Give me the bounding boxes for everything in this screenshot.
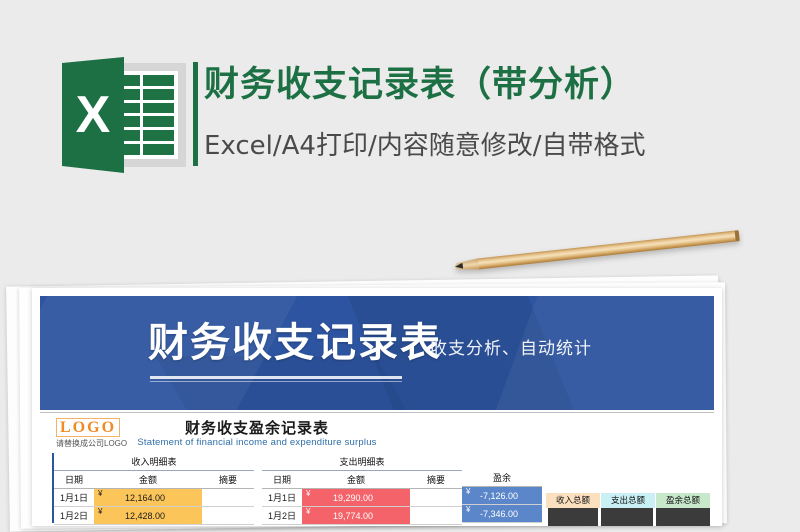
income-column-headers: 日期 金额 摘要 xyxy=(54,471,254,489)
spreadsheet-preview[interactable]: 财务收支记录表 收支分析、自动统计 LOGO 请替换成公司LOGO 财务收支盈余… xyxy=(32,288,722,526)
table-row[interactable]: 1月1日 ¥19,290.00 xyxy=(262,489,462,507)
income-memo[interactable] xyxy=(202,507,254,525)
surplus-column-headers: 盈余 xyxy=(462,469,542,487)
expense-col-amount: 金额 xyxy=(302,471,410,489)
expense-memo[interactable] xyxy=(410,507,462,525)
tables-region: 收入明细表 日期 金额 摘要 1月1日 ¥12,164.00 1月2日 xyxy=(40,453,714,523)
promo-title: 财务收支记录表（带分析） xyxy=(204,62,636,108)
surplus-col-label: 盈余 xyxy=(462,469,542,487)
table-row[interactable]: 1月1日 ¥12,164.00 xyxy=(54,489,254,507)
summary-cards: 收入总额 ¥249,942 支出总额 ¥252,479 盈余总额 (¥2,537… xyxy=(546,493,714,526)
income-table[interactable]: 收入明细表 日期 金额 摘要 1月1日 ¥12,164.00 1月2日 xyxy=(54,453,254,525)
expense-date[interactable]: 1月2日 xyxy=(262,507,302,525)
currency-symbol: ¥ xyxy=(466,505,470,514)
promo-subtitle: Excel/A4打印/内容随意修改/自带格式 xyxy=(204,126,645,166)
summary-card-expense[interactable]: 支出总额 ¥252,479 xyxy=(601,493,655,526)
currency-symbol: ¥ xyxy=(466,487,470,496)
pencil-end xyxy=(735,230,740,241)
currency-symbol: ¥ xyxy=(98,489,102,498)
expense-memo[interactable] xyxy=(410,489,462,507)
table-row[interactable]: ¥-7,346.00 xyxy=(462,505,542,523)
income-group-row: 收入明细表 xyxy=(54,453,254,471)
summary-value-expense: ¥252,479 xyxy=(601,508,655,526)
summary-label-income: 收入总额 xyxy=(546,493,600,508)
income-col-amount: 金额 xyxy=(94,471,202,489)
expense-group-label: 支出明细表 xyxy=(262,453,462,471)
income-col-date: 日期 xyxy=(54,471,94,489)
summary-card-income[interactable]: 收入总额 ¥249,942 xyxy=(546,493,600,526)
surplus-amount-value: -7,346.00 xyxy=(480,509,518,519)
surplus-amount[interactable]: ¥-7,126.00 xyxy=(462,487,542,505)
currency-symbol: ¥ xyxy=(306,489,310,498)
document-title: 财务收支盈余记录表 xyxy=(40,417,714,438)
banner-underline xyxy=(150,376,402,379)
expense-table[interactable]: 支出明细表 日期 金额 摘要 1月1日 ¥19,290.00 1月2日 xyxy=(262,453,462,525)
surplus-table[interactable]: 盈余 ¥-7,126.00 ¥-7,346.00 xyxy=(462,453,542,523)
income-col-memo: 摘要 xyxy=(202,471,254,489)
surplus-group-row xyxy=(462,453,542,469)
summary-value-surplus: (¥2,537) xyxy=(656,508,710,526)
excel-x-letter: X xyxy=(62,57,124,173)
workbook-sheet[interactable]: LOGO 请替换成公司LOGO 财务收支盈余记录表 Statement of f… xyxy=(40,412,714,523)
preview-banner: 财务收支记录表 收支分析、自动统计 xyxy=(40,296,714,410)
summary-label-expense: 支出总额 xyxy=(601,493,655,508)
workbook-header: LOGO 请替换成公司LOGO 财务收支盈余记录表 Statement of f… xyxy=(40,413,714,453)
currency-symbol: ¥ xyxy=(98,507,102,516)
pencil-body xyxy=(476,230,738,269)
excel-logo-icon: X xyxy=(62,57,186,173)
currency-symbol: ¥ xyxy=(306,507,310,516)
income-amount-value: 12,164.00 xyxy=(125,493,165,503)
income-date[interactable]: 1月2日 xyxy=(54,507,94,525)
expense-date[interactable]: 1月1日 xyxy=(262,489,302,507)
income-amount[interactable]: ¥12,428.00 xyxy=(94,507,202,525)
document-subtitle: Statement of financial income and expend… xyxy=(40,437,714,448)
income-amount-value: 12,428.00 xyxy=(125,511,165,521)
expense-col-date: 日期 xyxy=(262,471,302,489)
summary-card-surplus[interactable]: 盈余总额 (¥2,537) xyxy=(656,493,710,526)
expense-amount-value: 19,774.00 xyxy=(333,511,373,521)
summary-label-surplus: 盈余总额 xyxy=(656,493,710,508)
pencil-icon xyxy=(454,224,745,281)
income-amount[interactable]: ¥12,164.00 xyxy=(94,489,202,507)
expense-col-memo: 摘要 xyxy=(410,471,462,489)
banner-subtitle: 收支分析、自动统计 xyxy=(430,334,592,359)
summary-value-income: ¥249,942 xyxy=(546,508,600,526)
surplus-amount-value: -7,126.00 xyxy=(480,491,518,501)
table-row[interactable]: 1月2日 ¥12,428.00 xyxy=(54,507,254,525)
promo-accent-bar xyxy=(193,62,198,166)
table-row[interactable]: 1月2日 ¥19,774.00 xyxy=(262,507,462,525)
expense-amount[interactable]: ¥19,290.00 xyxy=(302,489,410,507)
income-memo[interactable] xyxy=(202,489,254,507)
expense-amount[interactable]: ¥19,774.00 xyxy=(302,507,410,525)
banner-title: 财务收支记录表 xyxy=(148,318,442,368)
banner-underline-thin xyxy=(150,381,402,382)
expense-amount-value: 19,290.00 xyxy=(333,493,373,503)
surplus-amount[interactable]: ¥-7,346.00 xyxy=(462,505,542,523)
expense-column-headers: 日期 金额 摘要 xyxy=(262,471,462,489)
expense-group-row: 支出明细表 xyxy=(262,453,462,471)
income-date[interactable]: 1月1日 xyxy=(54,489,94,507)
income-group-label: 收入明细表 xyxy=(54,453,254,471)
table-row[interactable]: ¥-7,126.00 xyxy=(462,487,542,505)
promo-header: X 财务收支记录表（带分析） Excel/A4打印/内容随意修改/自带格式 xyxy=(0,0,800,230)
